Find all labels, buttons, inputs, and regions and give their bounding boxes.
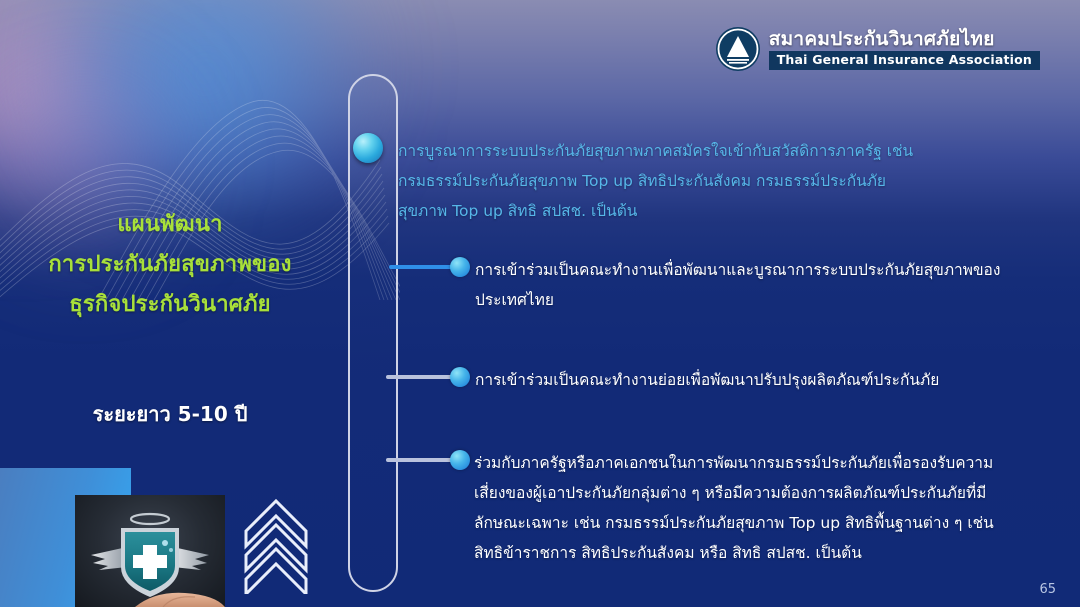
background-blob-pink (0, 0, 160, 210)
logo-english-name: Thai General Insurance Association (769, 51, 1040, 70)
logo-text-block: สมาคมประกันวินาศภัยไทย Thai General Insu… (769, 29, 1040, 70)
timeline-marker-4 (450, 450, 470, 470)
timeline-connector-3 (386, 375, 456, 379)
timeline-text-1: การบูรณาการระบบประกันภัยสุขภาพภาคสมัครใจ… (398, 136, 994, 226)
timeline-text-4: ร่วมกับภาครัฐหรือภาคเอกชนในการพัฒนากรมธร… (474, 448, 994, 568)
winged-shield-photo (75, 495, 225, 607)
timeline-marker-2 (450, 257, 470, 277)
winged-shield-with-medical-cross-icon (75, 495, 225, 607)
slide-title: แผนพัฒนา การประกันภัยสุขภาพของ ธุรกิจประ… (0, 205, 340, 325)
slide-subtitle: ระยะยาว 5-10 ปี (0, 398, 340, 430)
timeline-text-1-line-2: กรมธรรม์ประกันภัยสุขภาพ Top up สิทธิประก… (398, 166, 994, 196)
page-number: 65 (1039, 582, 1056, 597)
timeline-text-1-line-1: การบูรณาการระบบประกันภัยสุขภาพภาคสมัครใจ… (398, 136, 994, 166)
slide-canvas: แผนพัฒนา การประกันภัยสุขภาพของ ธุรกิจประ… (0, 0, 1080, 607)
timeline-marker-3 (450, 367, 470, 387)
title-line-1: แผนพัฒนา (0, 205, 340, 245)
timeline-text-3: การเข้าร่วมเป็นคณะทำงานย่อยเพื่อพัฒนาปรั… (475, 365, 1075, 395)
timeline-marker-1 (353, 133, 383, 163)
timeline-text-2-line-1: การเข้าร่วมเป็นคณะทำงานเพื่อพัฒนาและบูรณ… (475, 255, 1075, 315)
title-line-2: การประกันภัยสุขภาพของ (0, 245, 340, 285)
timeline-text-4-line-2: เสี่ยงของผู้เอาประกันภัยกลุ่มต่าง ๆ หรือ… (474, 478, 994, 508)
title-line-3: ธุรกิจประกันวินาศภัย (0, 285, 340, 325)
triple-chevron-up-icon (243, 489, 309, 594)
timeline-text-3-line-1: การเข้าร่วมเป็นคณะทำงานย่อยเพื่อพัฒนาปรั… (475, 365, 1075, 395)
background-blob-cyan (40, 0, 370, 210)
logo-thai-name: สมาคมประกันวินาศภัยไทย (769, 29, 1040, 49)
timeline-connector-2 (389, 265, 455, 269)
association-logo: สมาคมประกันวินาศภัยไทย Thai General Insu… (715, 26, 1040, 72)
timeline-text-4-line-1: ร่วมกับภาครัฐหรือภาคเอกชนในการพัฒนากรมธร… (474, 448, 994, 478)
triangle-in-circle-logo-icon (715, 26, 761, 72)
timeline-text-1-line-3: สุขภาพ Top up สิทธิ สปสช. เป็นต้น (398, 196, 994, 226)
timeline-text-2: การเข้าร่วมเป็นคณะทำงานเพื่อพัฒนาและบูรณ… (475, 255, 1075, 315)
timeline-connector-4 (386, 458, 456, 462)
timeline-text-4-line-3: ลักษณะเฉพาะ เช่น กรมธรรม์ประกันภัยสุขภาพ… (474, 508, 994, 538)
timeline-text-4-line-4: สิทธิข้าราชการ สิทธิประกันสังคม หรือ สิท… (474, 538, 994, 568)
